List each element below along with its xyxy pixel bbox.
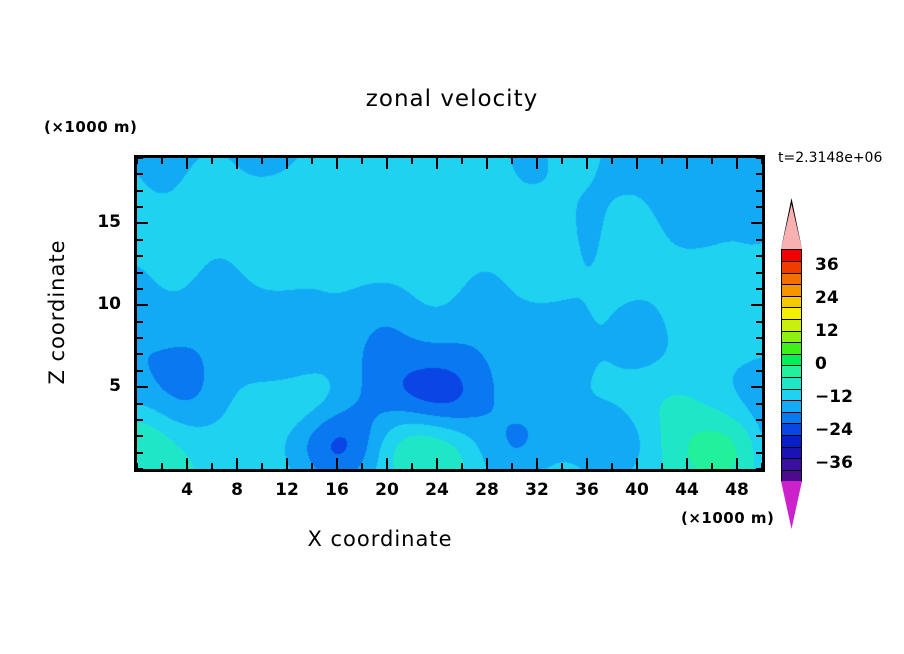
- colorbar-band: [781, 365, 802, 378]
- y-tick-right: [756, 321, 762, 323]
- colorbar: [781, 249, 802, 481]
- y-tick-right: [751, 222, 762, 224]
- colorbar-band: [781, 284, 802, 297]
- y-tick-right: [756, 353, 762, 355]
- y-tick-right: [756, 452, 762, 454]
- colorbar-band: [781, 435, 802, 448]
- time-stamp-annotation: t=2.3148e+06: [778, 150, 882, 166]
- colorbar-band: [781, 446, 802, 459]
- x-tick: [611, 463, 613, 469]
- colorbar-band: [781, 377, 802, 390]
- y-tick-label: 15: [61, 212, 121, 232]
- y-tick-right: [756, 190, 762, 192]
- y-tick: [137, 419, 143, 421]
- colorbar-over-cap: [781, 201, 802, 249]
- y-axis-units-label: (×1000 m): [44, 118, 137, 136]
- y-tick: [137, 157, 143, 159]
- x-tick-top: [211, 158, 213, 164]
- x-tick: [561, 463, 563, 469]
- y-tick-label: 10: [61, 294, 121, 314]
- colorbar-band: [781, 423, 802, 436]
- x-tick-top: [611, 158, 613, 164]
- colorbar-band: [781, 388, 802, 401]
- y-tick: [137, 222, 148, 224]
- y-tick-label: 5: [61, 376, 121, 396]
- y-tick-right: [756, 370, 762, 372]
- x-tick: [336, 458, 338, 469]
- colorbar-tick-label: −12: [815, 387, 885, 407]
- x-tick-top: [186, 158, 188, 169]
- y-tick-right: [756, 173, 762, 175]
- y-tick-right: [751, 386, 762, 388]
- y-tick: [137, 239, 143, 241]
- colorbar-under-cap: [781, 481, 802, 529]
- x-tick: [436, 458, 438, 469]
- x-tick-top: [161, 158, 163, 164]
- colorbar-band: [781, 342, 802, 355]
- colorbar-tick-label: −36: [815, 453, 885, 473]
- y-tick: [137, 370, 143, 372]
- x-tick-top: [436, 158, 438, 169]
- page-title: zonal velocity: [0, 86, 904, 112]
- x-tick-top: [736, 158, 738, 169]
- y-tick: [137, 403, 143, 405]
- y-tick-right: [756, 337, 762, 339]
- x-axis-units-label: (×1000 m): [681, 509, 774, 527]
- y-tick: [137, 321, 143, 323]
- colorbar-band: [781, 319, 802, 332]
- x-tick: [386, 458, 388, 469]
- x-tick: [361, 463, 363, 469]
- colorbar-band: [781, 307, 802, 320]
- contour-plot-area: [134, 155, 765, 472]
- x-tick: [461, 463, 463, 469]
- y-tick: [137, 468, 143, 470]
- y-tick-right: [756, 419, 762, 421]
- y-tick: [137, 190, 143, 192]
- x-tick: [286, 458, 288, 469]
- y-tick: [137, 386, 148, 388]
- colorbar-band: [781, 469, 802, 482]
- x-tick-top: [486, 158, 488, 169]
- colorbar-band: [781, 249, 802, 262]
- x-tick-top: [236, 158, 238, 169]
- x-tick: [236, 458, 238, 469]
- colorbar-band: [781, 400, 802, 413]
- x-tick: [636, 458, 638, 469]
- x-tick: [261, 463, 263, 469]
- x-tick-top: [311, 158, 313, 164]
- x-tick-top: [536, 158, 538, 169]
- x-tick-top: [561, 158, 563, 164]
- y-tick: [137, 288, 143, 290]
- x-tick: [411, 463, 413, 469]
- y-tick: [137, 452, 143, 454]
- y-tick: [137, 206, 143, 208]
- y-tick-right: [756, 255, 762, 257]
- x-tick-label: 48: [707, 480, 767, 500]
- x-tick-top: [361, 158, 363, 164]
- x-axis-title: X coordinate: [0, 527, 760, 551]
- colorbar-tick-label: 12: [815, 321, 885, 341]
- x-tick-top: [286, 158, 288, 169]
- colorbar-tick-label: −24: [815, 420, 885, 440]
- y-tick-right: [756, 272, 762, 274]
- x-tick-top: [686, 158, 688, 169]
- x-tick: [711, 463, 713, 469]
- colorbar-band: [781, 295, 802, 308]
- colorbar-tick-label: 0: [815, 354, 885, 374]
- y-tick-right: [751, 304, 762, 306]
- y-tick-right: [756, 468, 762, 470]
- y-tick: [137, 435, 143, 437]
- y-tick: [137, 272, 143, 274]
- y-tick-right: [756, 288, 762, 290]
- y-tick: [137, 304, 148, 306]
- x-tick-top: [511, 158, 513, 164]
- x-tick: [211, 463, 213, 469]
- x-tick-top: [411, 158, 413, 164]
- colorbar-band: [781, 353, 802, 366]
- x-tick: [511, 463, 513, 469]
- x-tick: [686, 458, 688, 469]
- y-tick: [137, 337, 143, 339]
- colorbar-tick-label: 36: [815, 255, 885, 275]
- x-tick-top: [261, 158, 263, 164]
- x-tick-top: [336, 158, 338, 169]
- y-tick: [137, 353, 143, 355]
- x-tick: [536, 458, 538, 469]
- colorbar-band: [781, 330, 802, 343]
- x-tick-top: [661, 158, 663, 164]
- y-tick: [137, 173, 143, 175]
- x-tick-top: [586, 158, 588, 169]
- x-tick: [311, 463, 313, 469]
- x-tick-top: [636, 158, 638, 169]
- y-tick-right: [756, 403, 762, 405]
- colorbar-tick-label: 24: [815, 288, 885, 308]
- colorbar-band: [781, 458, 802, 471]
- x-tick-top: [711, 158, 713, 164]
- y-tick-right: [756, 435, 762, 437]
- colorbar-band: [781, 411, 802, 424]
- y-tick: [137, 255, 143, 257]
- y-tick-right: [756, 157, 762, 159]
- x-tick: [586, 458, 588, 469]
- y-tick-right: [756, 206, 762, 208]
- x-tick: [486, 458, 488, 469]
- contour-field: [137, 158, 762, 469]
- x-tick-top: [386, 158, 388, 169]
- x-tick: [736, 458, 738, 469]
- x-tick: [661, 463, 663, 469]
- x-tick: [186, 458, 188, 469]
- colorbar-band: [781, 261, 802, 274]
- y-tick-right: [756, 239, 762, 241]
- x-tick-top: [461, 158, 463, 164]
- colorbar-band: [781, 272, 802, 285]
- x-tick: [161, 463, 163, 469]
